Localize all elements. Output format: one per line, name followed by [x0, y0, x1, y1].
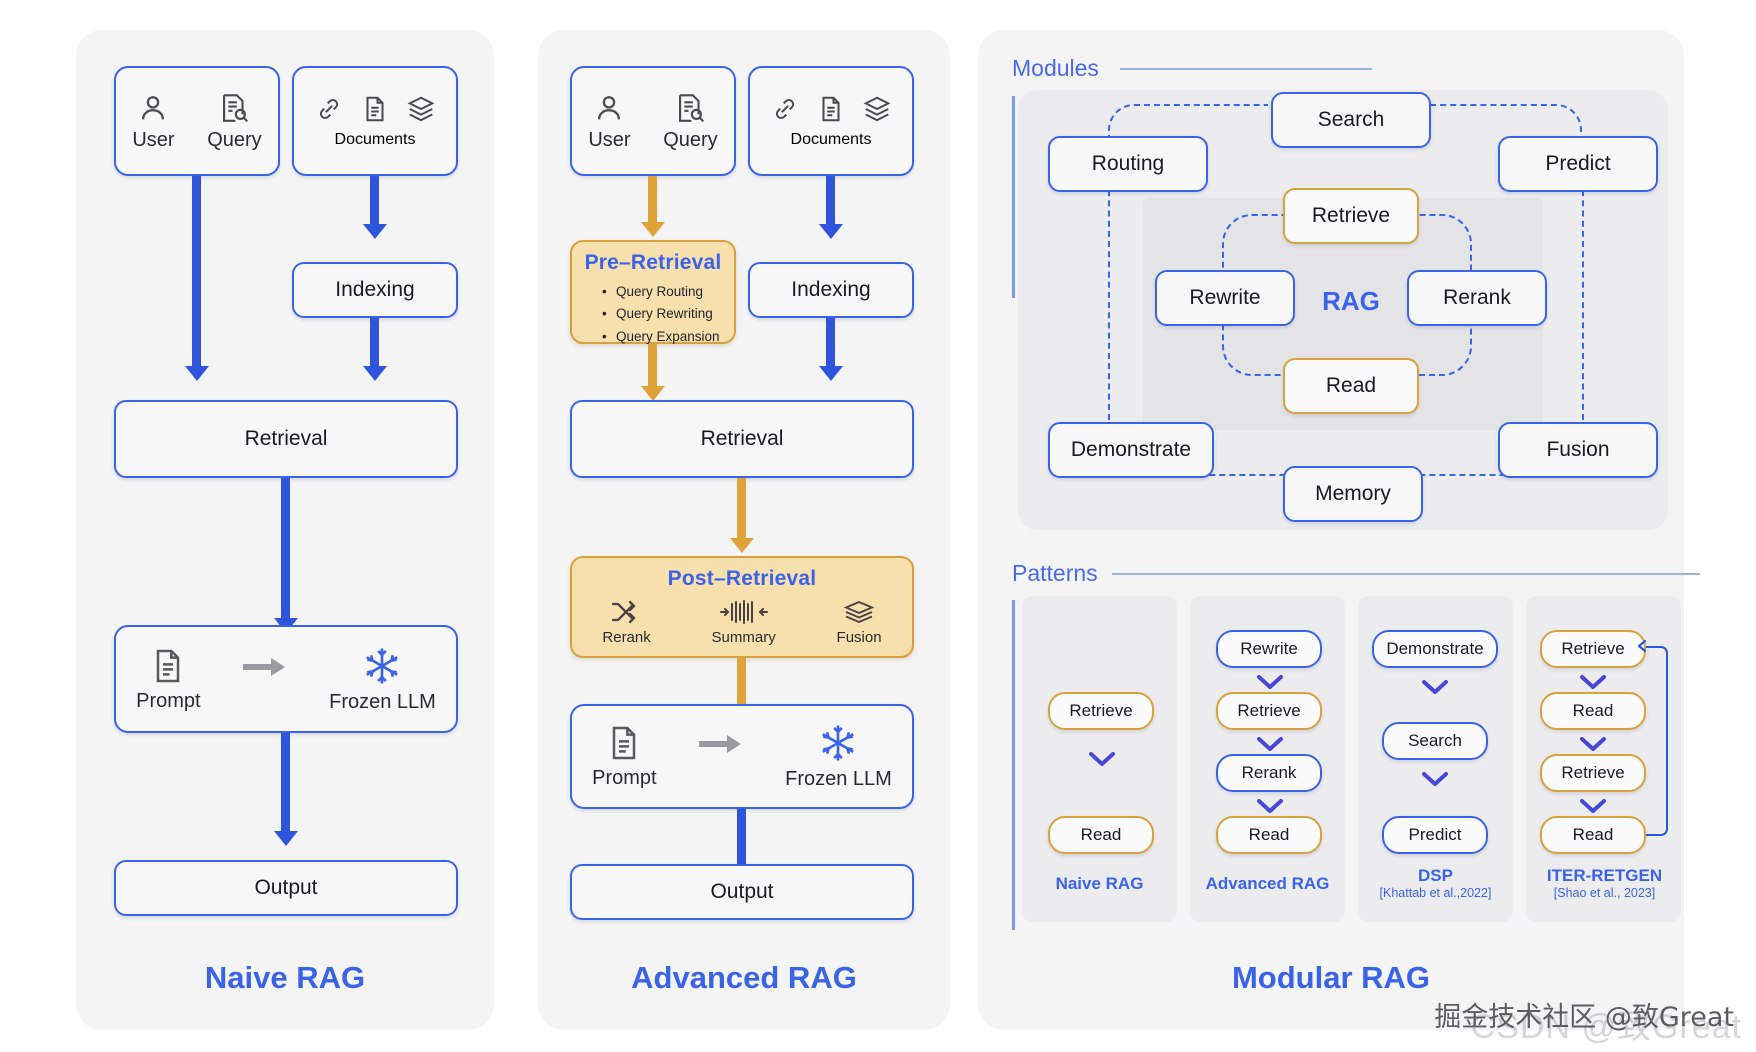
modular-rag-caption: Modular RAG: [978, 960, 1684, 996]
iter-retgen-loop-wire: [1646, 646, 1668, 836]
summary-cell: Summary: [712, 599, 776, 646]
documents-label: Documents: [791, 131, 872, 149]
module-label-rerank: Rerank: [1443, 286, 1511, 310]
pattern-step-label: Read: [1081, 825, 1122, 845]
document-icon: [604, 723, 644, 763]
naive-indexing-node: Indexing: [292, 262, 458, 318]
pattern-step-label: Read: [1573, 825, 1614, 845]
module-node-search[interactable]: Search: [1271, 92, 1431, 148]
retrieval-label: Retrieval: [245, 427, 328, 451]
documents-label: Documents: [335, 131, 416, 149]
advanced-user-query-box: User Query: [570, 66, 736, 176]
pattern-step-label: Retrieve: [1561, 763, 1624, 783]
pattern-citation: [Shao et al., 2023]: [1512, 886, 1697, 900]
right-arrow-icon: [697, 733, 745, 760]
naive-documents-box: Documents: [292, 66, 458, 176]
watermark-primary: 掘金技术社区 @致Great: [1434, 995, 1734, 1034]
naive-prompt-llm-box: Prompt Frozen LLM: [114, 625, 458, 733]
rerank-cell: Rerank: [602, 599, 650, 646]
pattern-node-read[interactable]: Read: [1048, 816, 1154, 854]
module-node-memory[interactable]: Memory: [1283, 466, 1423, 522]
patterns-header-rule: [1112, 573, 1700, 575]
user-icon: [136, 91, 170, 125]
pattern-step-label: Read: [1573, 701, 1614, 721]
advanced-output-node: Output: [570, 864, 914, 920]
naive-retrieval-node: Retrieval: [114, 400, 458, 478]
pattern-step-label: Retrieve: [1237, 701, 1300, 721]
arrow-post-retrieval-to-prompt: [737, 658, 746, 708]
pattern-node-search[interactable]: Search: [1382, 722, 1488, 760]
dash-routing-down: [1108, 180, 1110, 420]
modules-header-rule: [1120, 68, 1372, 70]
pattern-step-label: Predict: [1409, 825, 1462, 845]
module-label-routing: Routing: [1092, 152, 1164, 176]
query-label: Query: [663, 129, 717, 152]
modules-section-label: Modules: [1012, 55, 1099, 82]
compress-icon: [719, 599, 769, 625]
module-node-retrieve[interactable]: Retrieve: [1283, 188, 1419, 244]
indexing-label: Indexing: [791, 278, 870, 302]
user-label: User: [132, 129, 174, 152]
document-icon: [360, 94, 390, 129]
module-label-demonstrate: Demonstrate: [1071, 438, 1191, 462]
pattern-node-retrieve[interactable]: Retrieve: [1048, 692, 1154, 730]
document-icon: [148, 646, 188, 686]
arrow-indexing-to-retrieval: [370, 318, 379, 368]
rerank-label: Rerank: [602, 629, 650, 646]
frozen-llm-cell: Frozen LLM: [785, 722, 892, 791]
advanced-rag-caption: Advanced RAG: [538, 960, 950, 996]
pattern-step-label: Retrieve: [1069, 701, 1132, 721]
post-retrieval-box: Post–Retrieval Rerank: [570, 556, 914, 658]
module-label-fusion: Fusion: [1546, 438, 1609, 462]
user-icon-cell: User: [132, 91, 174, 152]
iter-retgen-loop-arrowhead: [1636, 639, 1650, 658]
advanced-documents-box: Documents: [748, 66, 914, 176]
diagram-canvas: User Query: [0, 0, 1756, 1052]
pre-retrieval-item: Query Rewriting: [616, 303, 734, 325]
naive-rag-caption: Naive RAG: [76, 960, 494, 996]
frozen-llm-label: Frozen LLM: [329, 691, 436, 714]
pre-retrieval-item: Query Expansion: [616, 326, 734, 348]
arrow-pre-retrieval-to-retrieval: [648, 344, 657, 388]
module-label-read: Read: [1326, 374, 1376, 398]
arrow-retrieval-to-post-retrieval: [737, 478, 746, 540]
advanced-prompt-llm-box: Prompt Frozen LLM: [570, 704, 914, 809]
query-search-doc-icon: [217, 91, 251, 125]
module-node-read[interactable]: Read: [1283, 358, 1419, 414]
indexing-label: Indexing: [335, 278, 414, 302]
frozen-llm-cell: Frozen LLM: [329, 645, 436, 714]
retrieval-label: Retrieval: [701, 427, 784, 451]
arrow-indexing-to-retrieval: [826, 318, 835, 368]
chevron-down-icon: [1420, 678, 1450, 701]
document-icon: [816, 94, 846, 129]
user-icon: [592, 91, 626, 125]
pattern-step-label: Retrieve: [1561, 639, 1624, 659]
link-icon: [770, 94, 800, 129]
pattern-caption-text: DSP: [1418, 866, 1453, 885]
user-label: User: [588, 129, 630, 152]
module-label-predict: Predict: [1545, 152, 1610, 176]
naive-output-node: Output: [114, 860, 458, 916]
arrow-prompt-to-output: [737, 809, 746, 869]
module-node-demonstrate[interactable]: Demonstrate: [1048, 422, 1214, 478]
arrow-prompt-to-output: [281, 733, 290, 833]
module-node-rewrite[interactable]: Rewrite: [1155, 270, 1295, 326]
pattern-step-label: Search: [1408, 731, 1462, 751]
prompt-label: Prompt: [136, 690, 200, 713]
query-label: Query: [207, 129, 261, 152]
advanced-indexing-node: Indexing: [748, 262, 914, 318]
layers-icon: [862, 94, 892, 129]
pattern-caption-iter-retgen: ITER-RETGEN [Shao et al., 2023]: [1512, 866, 1697, 900]
module-label-memory: Memory: [1315, 482, 1391, 506]
link-icon: [314, 94, 344, 129]
modules-center-rag-label: RAG: [1320, 286, 1382, 317]
pattern-caption-text: Advanced RAG: [1206, 874, 1330, 893]
pattern-node-retrieve[interactable]: Retrieve: [1540, 754, 1646, 792]
pre-retrieval-item: Query Routing: [616, 281, 734, 303]
pattern-caption-naive: Naive RAG: [1022, 874, 1177, 894]
prompt-label: Prompt: [592, 767, 656, 790]
output-label: Output: [254, 876, 317, 900]
module-label-search: Search: [1318, 108, 1385, 132]
right-arrow-icon: [241, 656, 289, 683]
prompt-cell: Prompt: [136, 646, 200, 713]
pattern-node-rerank[interactable]: Rerank: [1216, 754, 1322, 792]
pattern-step-label: Read: [1249, 825, 1290, 845]
shuffle-icon: [610, 599, 644, 625]
pattern-node-read[interactable]: Read: [1540, 816, 1646, 854]
pattern-citation: [Khattab et al.,2022]: [1358, 886, 1513, 900]
pattern-step-label: Demonstrate: [1386, 639, 1483, 659]
pattern-node-demonstrate[interactable]: Demonstrate: [1372, 630, 1498, 668]
arrow-documents-to-indexing: [826, 176, 835, 226]
pattern-caption-text: Naive RAG: [1056, 874, 1144, 893]
post-retrieval-title: Post–Retrieval: [572, 567, 912, 591]
chevron-down-icon: [1087, 750, 1117, 773]
advanced-retrieval-node: Retrieval: [570, 400, 914, 478]
fusion-label: Fusion: [837, 629, 882, 646]
pre-retrieval-title: Pre–Retrieval: [572, 251, 734, 275]
module-node-predict[interactable]: Predict: [1498, 136, 1658, 192]
pattern-step-label: Rerank: [1242, 763, 1297, 783]
patterns-accent-bar: [1012, 600, 1015, 930]
layers-icon: [406, 94, 436, 129]
arrow-query-to-retrieval: [192, 176, 201, 368]
arrow-documents-to-indexing: [370, 176, 379, 226]
pattern-node-read[interactable]: Read: [1540, 692, 1646, 730]
pattern-caption-dsp: DSP [Khattab et al.,2022]: [1358, 866, 1513, 900]
user-icon-cell: User: [588, 91, 630, 152]
arrow-retrieval-to-prompt: [281, 478, 290, 620]
pattern-node-predict[interactable]: Predict: [1382, 816, 1488, 854]
frozen-llm-label: Frozen LLM: [785, 768, 892, 791]
pattern-node-read[interactable]: Read: [1216, 816, 1322, 854]
pattern-node-rewrite[interactable]: Rewrite: [1216, 630, 1322, 668]
summary-label: Summary: [712, 629, 776, 646]
snowflake-icon: [817, 722, 859, 764]
module-node-routing[interactable]: Routing: [1048, 136, 1208, 192]
modules-accent-bar: [1012, 96, 1015, 298]
fusion-layers-icon: [841, 599, 877, 625]
pattern-caption-text: ITER-RETGEN: [1547, 866, 1662, 885]
query-icon-cell: Query: [207, 91, 261, 152]
pattern-caption-advanced: Advanced RAG: [1190, 874, 1345, 894]
patterns-section-label: Patterns: [1012, 560, 1098, 587]
snowflake-icon: [361, 645, 403, 687]
module-node-fusion[interactable]: Fusion: [1498, 422, 1658, 478]
pattern-node-retrieve[interactable]: Retrieve: [1540, 630, 1646, 668]
module-label-retrieve: Retrieve: [1312, 204, 1390, 228]
pattern-step-label: Rewrite: [1240, 639, 1298, 659]
module-label-rewrite: Rewrite: [1189, 286, 1260, 310]
naive-user-query-box: User Query: [114, 66, 280, 176]
query-icon-cell: Query: [663, 91, 717, 152]
chevron-down-icon: [1420, 770, 1450, 793]
module-node-rerank[interactable]: Rerank: [1407, 270, 1547, 326]
query-search-doc-icon: [673, 91, 707, 125]
dash-predict-down: [1582, 180, 1584, 420]
pre-retrieval-box: Pre–Retrieval Query Routing Query Rewrit…: [570, 240, 736, 344]
pattern-node-retrieve[interactable]: Retrieve: [1216, 692, 1322, 730]
arrow-query-to-pre-retrieval: [648, 176, 657, 224]
output-label: Output: [710, 880, 773, 904]
pre-retrieval-list: Query Routing Query Rewriting Query Expa…: [616, 281, 734, 348]
fusion-cell: Fusion: [837, 599, 882, 646]
prompt-cell: Prompt: [592, 723, 656, 790]
